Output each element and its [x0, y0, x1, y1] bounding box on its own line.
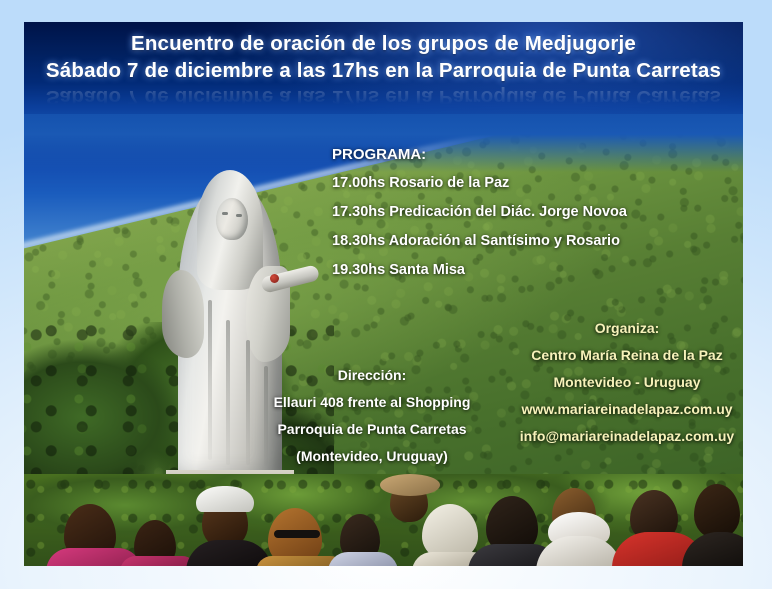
organiza-line: Montevideo - Uruguay	[484, 369, 743, 396]
sun-hat-icon	[380, 474, 440, 496]
organiza-block: Organiza: Centro María Reina de la Paz M…	[484, 315, 743, 450]
direccion-heading: Dirección:	[242, 362, 502, 389]
organiza-line: Centro María Reina de la Paz	[484, 342, 743, 369]
program-item: 18.30hs Adoración al Santísimo y Rosario	[332, 227, 627, 256]
statue-face	[216, 198, 248, 240]
poster-title-reflection: Sábado 7 de diciembre a las 17hs en la P…	[24, 84, 743, 111]
statue-eye-right	[236, 214, 242, 217]
organiza-email[interactable]: info@mariareinadelapaz.com.uy	[484, 423, 743, 450]
statue-rose	[270, 274, 279, 283]
poster-title: Encuentro de oración de los grupos de Me…	[24, 30, 743, 84]
direccion-block: Dirección: Ellauri 408 frente al Shoppin…	[242, 362, 502, 470]
person-body	[328, 552, 398, 566]
program-item: 17.30hs Predicación del Diác. Jorge Novo…	[332, 198, 627, 227]
program-heading: PROGRAMA:	[332, 140, 627, 169]
direccion-line: (Montevideo, Uruguay)	[242, 443, 502, 470]
direccion-line: Ellauri 408 frente al Shopping	[242, 389, 502, 416]
white-cap-icon	[196, 486, 254, 512]
statue-fold-1	[208, 300, 212, 460]
program-block: PROGRAMA: 17.00hs Rosario de la Paz 17.3…	[332, 140, 627, 285]
organiza-heading: Organiza:	[484, 315, 743, 342]
person-head	[694, 484, 740, 538]
title-reflection-line-2: Sábado 7 de diciembre a las 17hs en la P…	[24, 84, 743, 111]
statue-left-sleeve	[162, 270, 204, 358]
statue-fold-2	[226, 320, 230, 465]
organiza-website[interactable]: www.mariareinadelapaz.com.uy	[484, 396, 743, 423]
program-item: 19.30hs Santa Misa	[332, 256, 627, 285]
program-item: 17.00hs Rosario de la Paz	[332, 169, 627, 198]
statue-eye-left	[222, 212, 228, 215]
title-line-2: Sábado 7 de diciembre a las 17hs en la P…	[24, 57, 743, 84]
sunglasses-icon	[274, 530, 320, 538]
poster-image: Encuentro de oración de los grupos de Me…	[24, 22, 743, 566]
direccion-line: Parroquia de Punta Carretas	[242, 416, 502, 443]
crowd-of-pilgrims	[24, 474, 743, 566]
title-line-1: Encuentro de oración de los grupos de Me…	[24, 30, 743, 57]
